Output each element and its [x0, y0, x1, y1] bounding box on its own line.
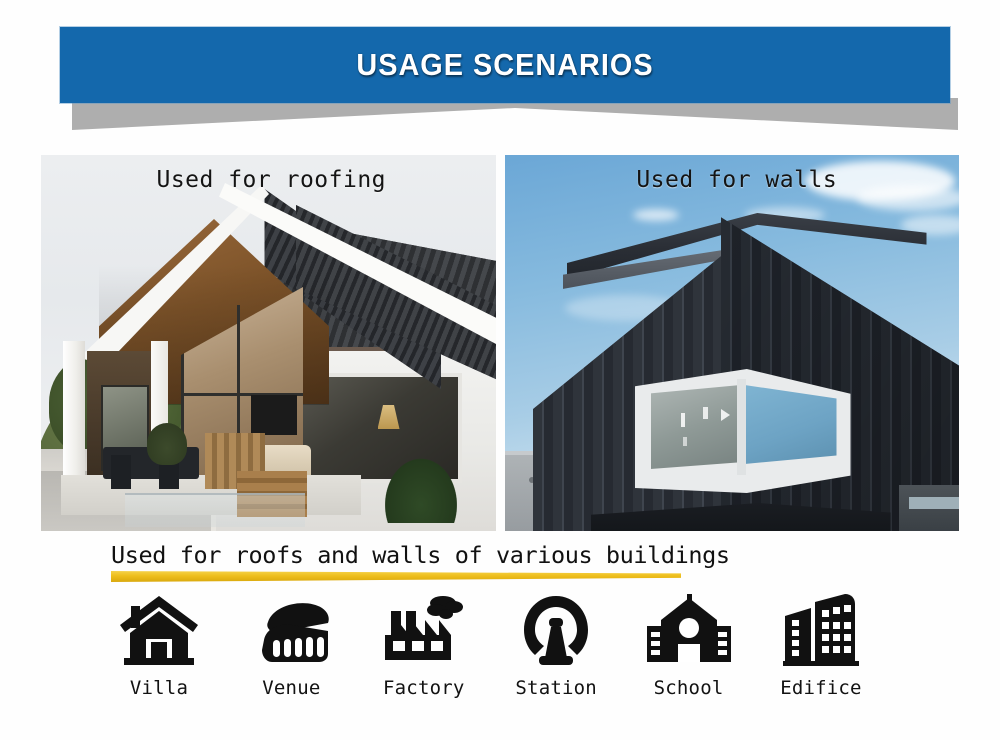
photo-caption-roofing: Used for roofing: [41, 167, 496, 193]
roofing-illustration: [41, 155, 496, 531]
subhead-underline: [111, 571, 681, 582]
photo-walls: Used for walls: [505, 155, 960, 531]
walls-illustration: [505, 155, 960, 531]
banner-shadow-arc: [72, 98, 958, 138]
application-label-edifice: Edifice: [780, 677, 861, 699]
banner-bar: USAGE SCENARIOS: [60, 27, 950, 103]
application-item-villa: Villa: [95, 590, 223, 699]
application-item-venue: Venue: [227, 590, 355, 699]
school-icon: [643, 590, 735, 668]
application-label-station: Station: [515, 677, 596, 699]
photo-roofing: Used for roofing: [41, 155, 496, 531]
subhead-block: Used for roofs and walls of various buil…: [111, 540, 811, 588]
application-item-station: Station: [492, 590, 620, 699]
photo-caption-walls: Used for walls: [505, 167, 960, 193]
stadium-icon: [245, 590, 337, 668]
page-title: USAGE SCENARIOS: [91, 27, 919, 103]
photo-row: Used for roofing: [41, 155, 959, 531]
header-banner: USAGE SCENARIOS: [0, 0, 1000, 150]
application-label-factory: Factory: [383, 677, 464, 699]
application-label-villa: Villa: [130, 677, 188, 699]
usage-scenarios-page: USAGE SCENARIOS: [0, 0, 1000, 740]
office-tower-icon: [775, 590, 867, 668]
application-item-factory: Factory: [360, 590, 488, 699]
application-item-edifice: Edifice: [757, 590, 885, 699]
application-icon-row: Villa Venue: [95, 590, 885, 710]
station-icon: [510, 590, 602, 668]
house-icon: [113, 590, 205, 668]
application-label-school: School: [654, 677, 724, 699]
subhead-text: Used for roofs and walls of various buil…: [111, 540, 811, 570]
application-item-school: School: [625, 590, 753, 699]
factory-icon: [378, 590, 470, 668]
application-label-venue: Venue: [262, 677, 320, 699]
